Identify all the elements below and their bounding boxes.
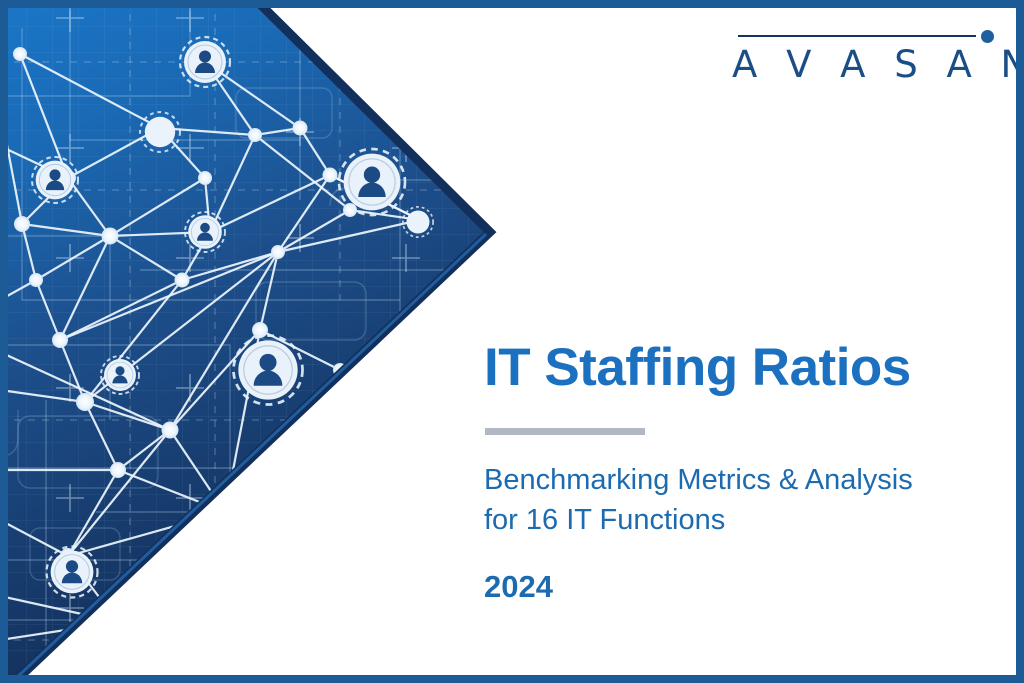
slide-canvas: A V A S A N T IT Staffing Ratios Benchma… <box>0 0 1024 683</box>
logo-wordmark: A V A S A N T <box>732 44 994 86</box>
ring-node-icon <box>403 207 433 237</box>
page-subtitle: Benchmarking Metrics & Analysis for 16 I… <box>484 460 994 540</box>
blueprint-network-arrow-graphic <box>0 0 500 683</box>
ring-node-icon <box>140 112 180 152</box>
page-subtitle-line-2: for 16 IT Functions <box>484 500 994 540</box>
title-accent-rule <box>485 428 645 435</box>
publication-year: 2024 <box>484 569 1004 605</box>
logo-rule-icon <box>738 35 976 37</box>
logo-dot-icon <box>981 30 994 43</box>
page-subtitle-line-1: Benchmarking Metrics & Analysis <box>484 460 994 500</box>
blueprint-network-svg <box>0 0 500 683</box>
title-block: IT Staffing Ratios Benchmarking Metrics … <box>484 338 1004 605</box>
page-title: IT Staffing Ratios <box>484 338 1004 398</box>
avasant-logo: A V A S A N T <box>732 24 994 86</box>
